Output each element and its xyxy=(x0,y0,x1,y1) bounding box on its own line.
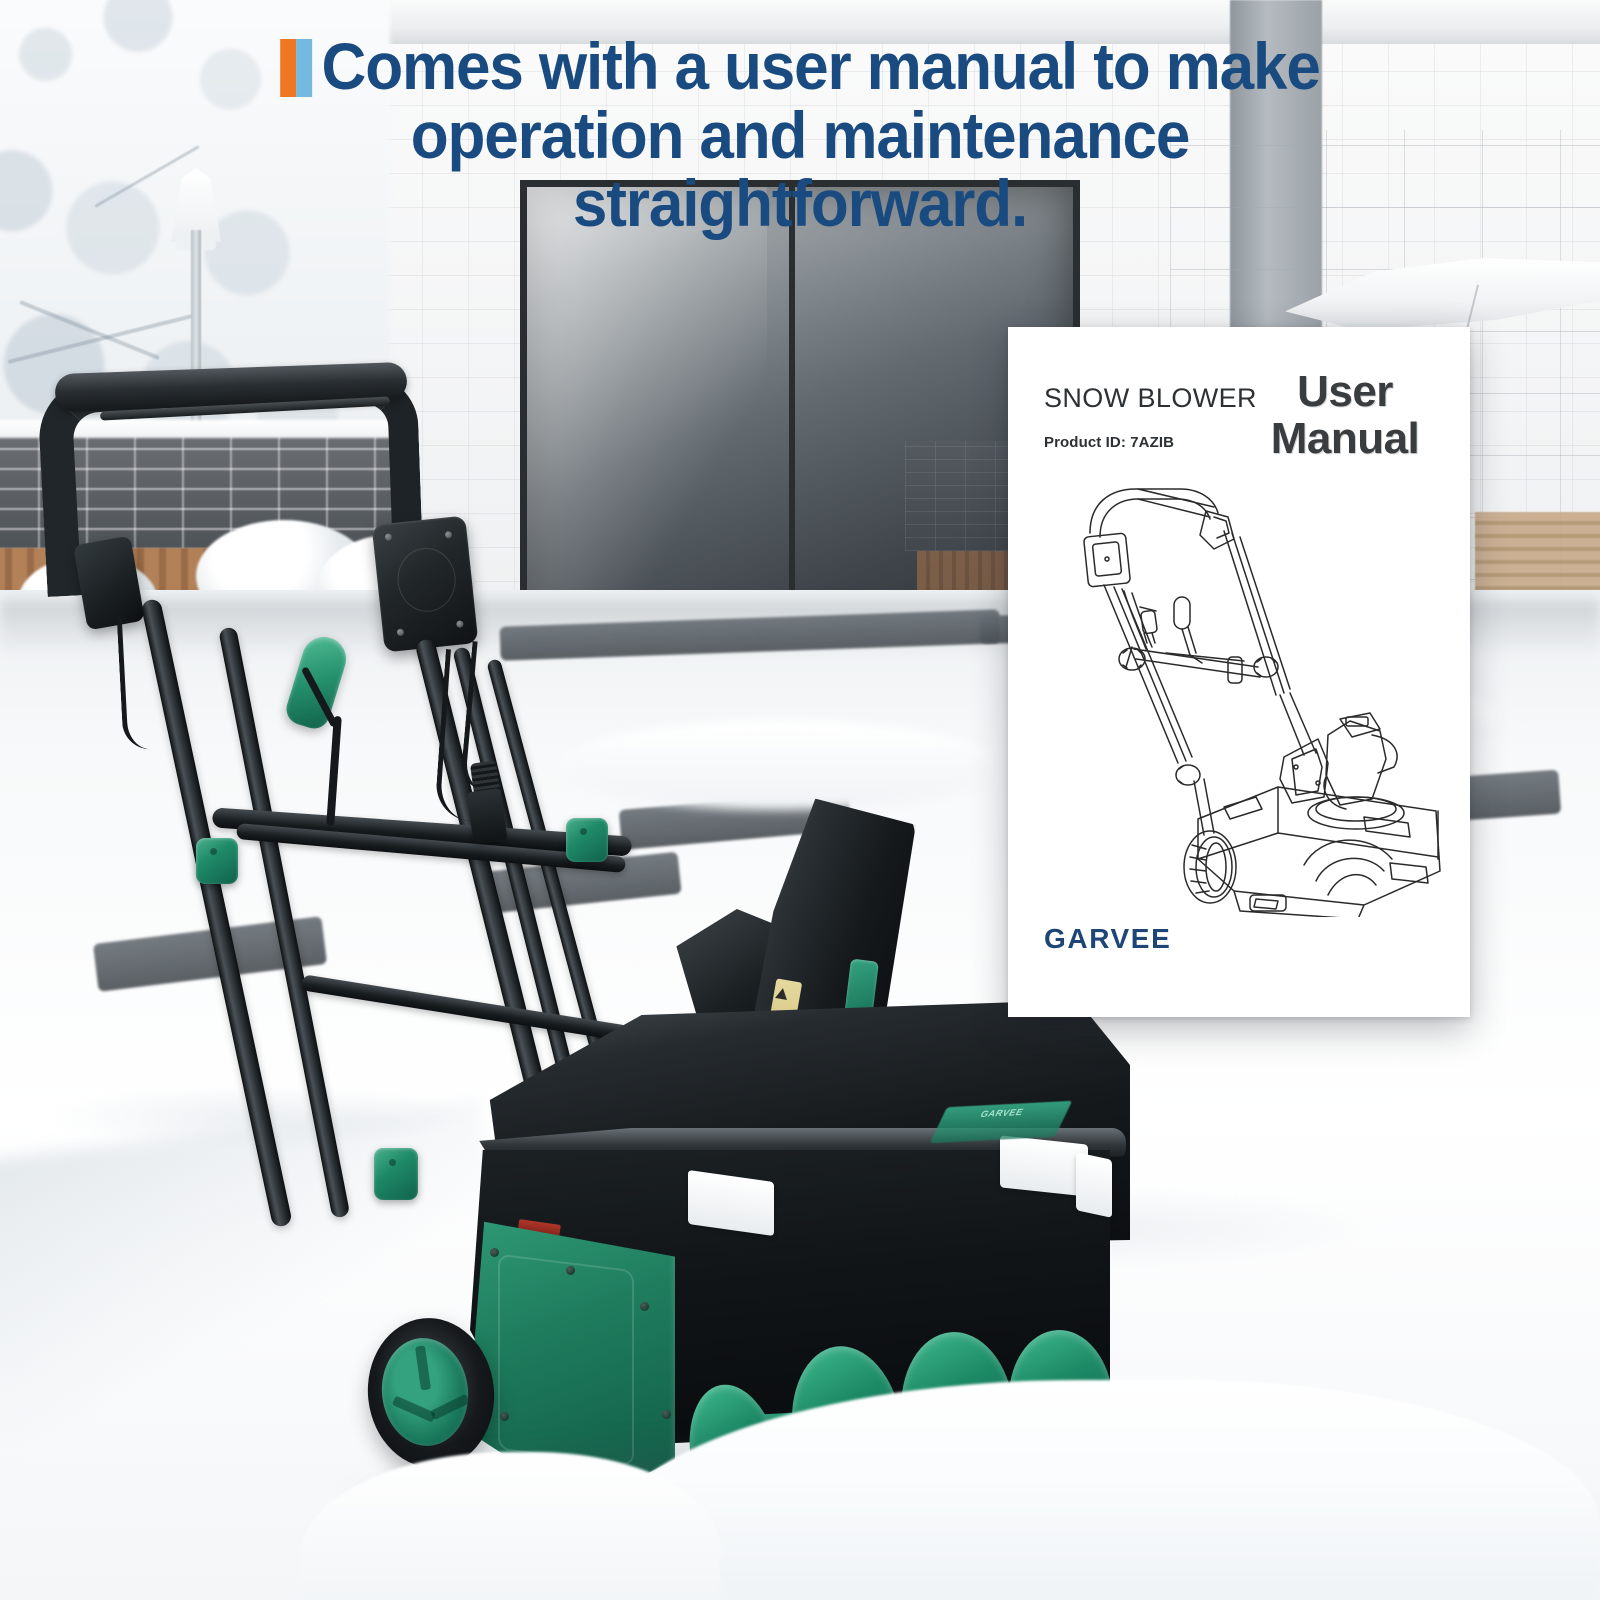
cover-screw xyxy=(566,1266,575,1275)
screw xyxy=(385,533,393,541)
cover-screw xyxy=(640,1302,649,1311)
adjustment-knob-right xyxy=(566,818,608,862)
screw xyxy=(397,628,405,636)
manual-product-id: Product ID: 7AZIB xyxy=(1044,434,1174,451)
control-switch-box xyxy=(372,515,479,652)
handle-tube-left-outer xyxy=(140,598,293,1228)
manual-brand-logo: GARVEE xyxy=(1044,923,1171,955)
adjustment-knob-left xyxy=(196,838,238,884)
warning-triangle-icon xyxy=(775,987,789,1000)
reflector-strip-edge xyxy=(1076,1152,1112,1218)
headline-text-3: straightforward. xyxy=(48,169,1552,238)
headline-text-1: Comes with a user manual to make xyxy=(322,29,1320,103)
cover-screw xyxy=(490,1248,499,1257)
product-marketing-image: GARVEE Comes with a user manual to make … xyxy=(0,0,1600,1600)
manual-doc-title-line1: User xyxy=(1250,369,1440,416)
headline-text-2: operation and maintenance xyxy=(48,101,1552,170)
reflector-strip xyxy=(1000,1135,1088,1196)
headline-block: Comes with a user manual to make operati… xyxy=(0,32,1600,238)
cover-screw xyxy=(500,1412,509,1421)
user-manual-card: SNOW BLOWER Product ID: 7AZIB User Manua… xyxy=(1008,327,1470,1017)
lever-rod xyxy=(326,716,342,826)
manual-doc-title: User Manual xyxy=(1250,369,1440,462)
screw xyxy=(445,531,453,539)
manual-product-title: SNOW BLOWER xyxy=(1044,383,1257,414)
screw xyxy=(456,620,464,628)
adjustment-knob-lower xyxy=(374,1148,418,1200)
headline-line-1: Comes with a user manual to make xyxy=(48,32,1552,101)
snow-blower-line-drawing-icon xyxy=(1028,467,1458,917)
power-cord-plug xyxy=(467,788,508,844)
manual-doc-title-line2: Manual xyxy=(1250,416,1440,463)
cover-screw xyxy=(662,1410,671,1419)
accent-bar-icon xyxy=(280,39,312,97)
